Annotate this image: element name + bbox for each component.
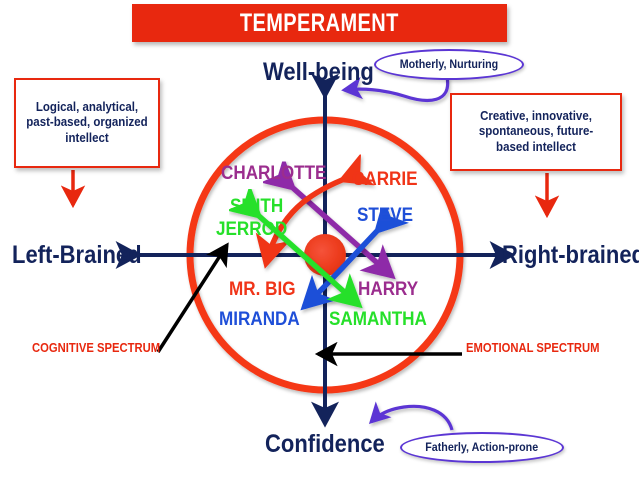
character-label-jerrod: JERROD	[216, 219, 295, 241]
character-label-mr-big-text: MR. BIG	[229, 279, 296, 301]
page-title: TEMPERAMENT	[132, 4, 507, 42]
axis-label-right-text: Right-brained	[502, 241, 639, 270]
label-cognitive-spectrum-text: COGNITIVE SPECTRUM	[32, 341, 160, 355]
diagram-canvas: TEMPERAMENT Logical, analytical, past-ba…	[0, 0, 639, 479]
info-box-right-brained-text: Creative, innovative, spontaneous, futur…	[462, 109, 609, 155]
bubble-bottom-connector	[371, 406, 452, 430]
character-label-charlotte-text: CHARLOTTE	[221, 163, 326, 185]
info-box-right-brained: Creative, innovative, spontaneous, futur…	[450, 93, 622, 171]
callout-bubble-fatherly: Fatherly, Action-prone	[400, 432, 564, 463]
character-label-carrie-text: CARRIE	[352, 169, 418, 191]
character-label-carrie: CARRIE	[352, 169, 425, 191]
character-label-smith: SMITH	[230, 196, 289, 218]
character-label-samantha-text: SAMANTHA	[329, 309, 427, 331]
character-label-smith-text: SMITH	[230, 196, 283, 218]
axis-label-left: Left-Brained	[12, 241, 159, 270]
character-label-charlotte: CHARLOTTE	[221, 163, 338, 185]
info-box-left-brained-text: Logical, analytical, past-based, organiz…	[25, 100, 148, 146]
axis-label-bottom-text: Confidence	[265, 430, 385, 459]
character-label-steve-text: STEVE	[357, 205, 413, 227]
callout-bubble-motherly: Motherly, Nurturing	[374, 49, 524, 80]
label-emotional-spectrum-text: EMOTIONAL SPECTRUM	[466, 341, 600, 355]
character-label-harry: HARRY	[358, 279, 425, 301]
page-title-text: TEMPERAMENT	[240, 9, 399, 38]
character-label-miranda: MIRANDA	[219, 309, 309, 331]
character-label-mr-big: MR. BIG	[229, 279, 303, 301]
character-label-steve: STEVE	[357, 205, 419, 227]
label-emotional-spectrum: EMOTIONAL SPECTRUM	[466, 341, 614, 355]
character-label-miranda-text: MIRANDA	[219, 309, 300, 331]
character-label-jerrod-text: JERROD	[216, 219, 287, 241]
callout-bubble-motherly-text: Motherly, Nurturing	[400, 59, 498, 71]
axis-label-left-text: Left-Brained	[12, 241, 142, 270]
axis-label-right: Right-brained	[502, 241, 639, 270]
label-cognitive-spectrum: COGNITIVE SPECTRUM	[32, 341, 174, 355]
axis-label-bottom: Confidence	[265, 430, 401, 459]
axis-label-top: Well-being	[263, 58, 389, 87]
character-label-harry-text: HARRY	[358, 279, 418, 301]
axis-label-top-text: Well-being	[263, 58, 374, 87]
callout-bubble-fatherly-text: Fatherly, Action-prone	[426, 442, 539, 454]
info-box-left-brained: Logical, analytical, past-based, organiz…	[14, 78, 160, 168]
character-label-samantha: SAMANTHA	[329, 309, 438, 331]
